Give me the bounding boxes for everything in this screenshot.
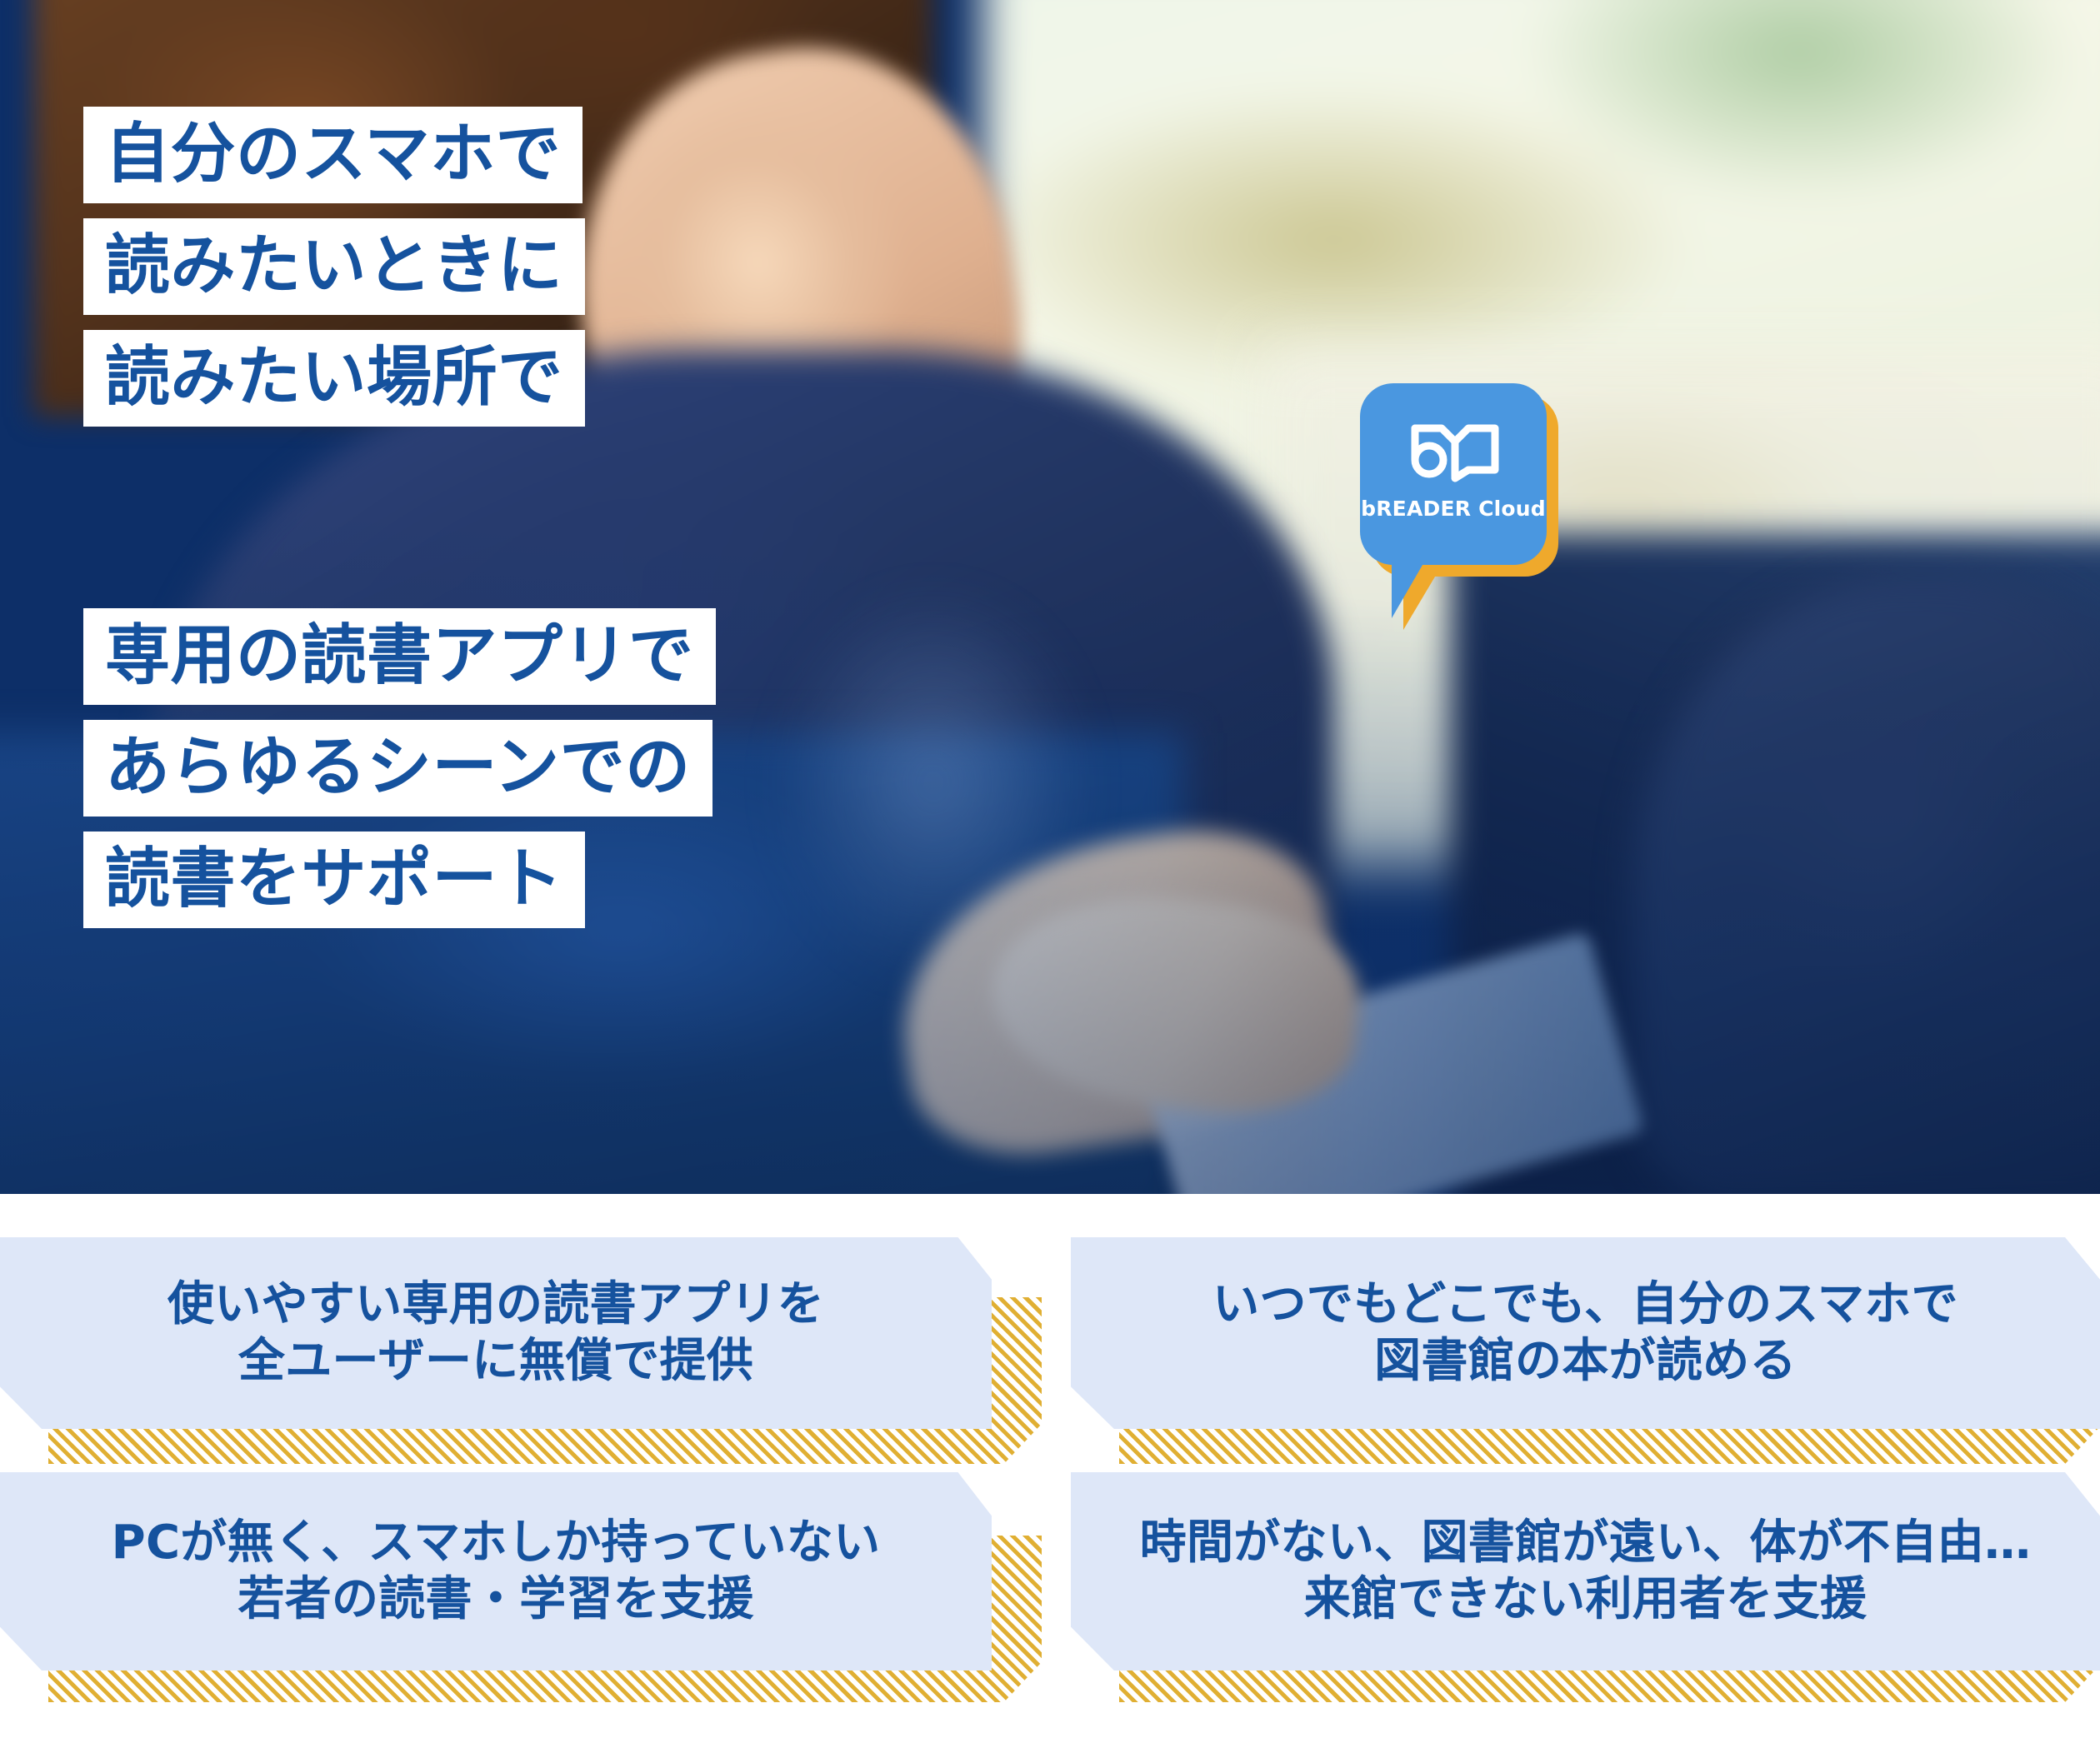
callout-line: いつでもどこでも、自分のスマホで xyxy=(1212,1276,1958,1333)
headline-line: あらゆるシーンでの xyxy=(83,720,712,817)
callout-line: 使いやすい専用の読書アプリを xyxy=(167,1276,824,1333)
callout-anytime-anywhere[interactable]: いつでもどこでも、自分のスマホで 図書館の本が読める xyxy=(1071,1237,2100,1429)
headline-line: 専用の読書アプリで xyxy=(83,608,716,705)
callout-line: 全ユーザーに無償で提供 xyxy=(238,1333,753,1390)
headline-line: 読書をサポート xyxy=(83,832,585,928)
open-book-b-icon xyxy=(1408,417,1502,485)
callout-line: 若者の読書・学習を支援 xyxy=(237,1571,753,1628)
callout-grid: 使いやすい専用の読書アプリを 全ユーザーに無償で提供 いつでもどこでも、自分のス… xyxy=(0,1194,2100,1743)
callout-line: 図書館の本が読める xyxy=(1374,1333,1797,1390)
callout-reading-app[interactable]: 使いやすい専用の読書アプリを 全ユーザーに無償で提供 xyxy=(0,1237,992,1429)
callout-cannot-visit[interactable]: 時間がない、図書館が遠い、体が不自由… 来館できない利用者を支援 xyxy=(1071,1472,2100,1671)
callout-line: PCが無く、スマホしか持っていない xyxy=(112,1515,881,1571)
callout-line: 来館できない利用者を支援 xyxy=(1304,1571,1867,1628)
headline-line: 読みたいときに xyxy=(83,218,585,315)
poster-canvas: 自分のスマホで 読みたいときに 読みたい場所で 専用の読書アプリで あらゆるシー… xyxy=(0,0,2100,1743)
headline-line: 読みたい場所で xyxy=(83,330,585,427)
logo-wordmark: bREADER Cloud xyxy=(1360,497,1547,521)
headline-block-2: 専用の読書アプリで あらゆるシーンでの 読書をサポート xyxy=(83,608,716,928)
callout-line: 時間がない、図書館が遠い、体が不自由… xyxy=(1140,1515,2032,1571)
logo-bubble-tail xyxy=(1392,555,1428,618)
headline-block-1: 自分のスマホで 読みたいときに 読みたい場所で xyxy=(83,107,585,427)
breader-cloud-logo[interactable]: bREADER Cloud xyxy=(1360,383,1570,627)
headline-line: 自分のスマホで xyxy=(83,107,582,203)
callout-youth-support[interactable]: PCが無く、スマホしか持っていない 若者の読書・学習を支援 xyxy=(0,1472,992,1671)
